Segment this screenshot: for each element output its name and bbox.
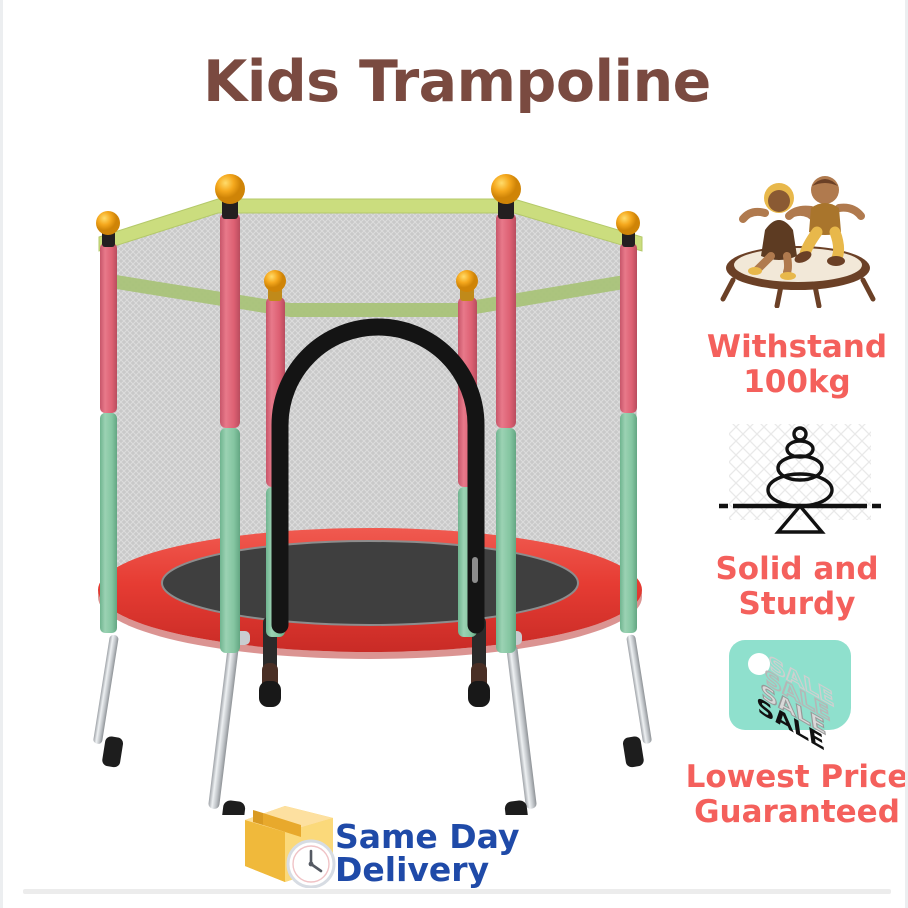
same-day-delivery-label: Same Day Delivery <box>335 820 665 886</box>
feature-withstand-line1: Withstand <box>683 330 908 365</box>
bottom-divider <box>23 889 891 894</box>
feature-withstand-label: Withstand 100kg <box>683 330 908 401</box>
feature-lowest-price-label: Lowest Price Guaranteed <box>683 760 908 831</box>
page-title: Kids Trampoline <box>3 54 908 111</box>
feature-sturdy-label: Solid and Sturdy <box>683 552 908 623</box>
feature-lowest-price-line2: Guaranteed <box>683 795 908 830</box>
product-photo <box>58 165 688 815</box>
enclosure-net <box>58 165 688 815</box>
feature-withstand-line2: 100kg <box>683 365 908 400</box>
product-listing-image: Kids Trampoline <box>0 0 908 908</box>
balance-stability-icon <box>715 420 885 540</box>
kids-jumping-on-trampoline-icon <box>703 168 893 308</box>
door-zipper <box>472 557 478 583</box>
sale-price-tag-icon: SALE SALE SALE SALE <box>715 622 875 752</box>
feature-lowest-price-line1: Lowest Price <box>683 760 908 795</box>
feature-sturdy-line1: Solid and <box>683 552 908 587</box>
shipping-box-with-clock-icon <box>239 792 347 888</box>
feature-sturdy-line2: Sturdy <box>683 587 908 622</box>
